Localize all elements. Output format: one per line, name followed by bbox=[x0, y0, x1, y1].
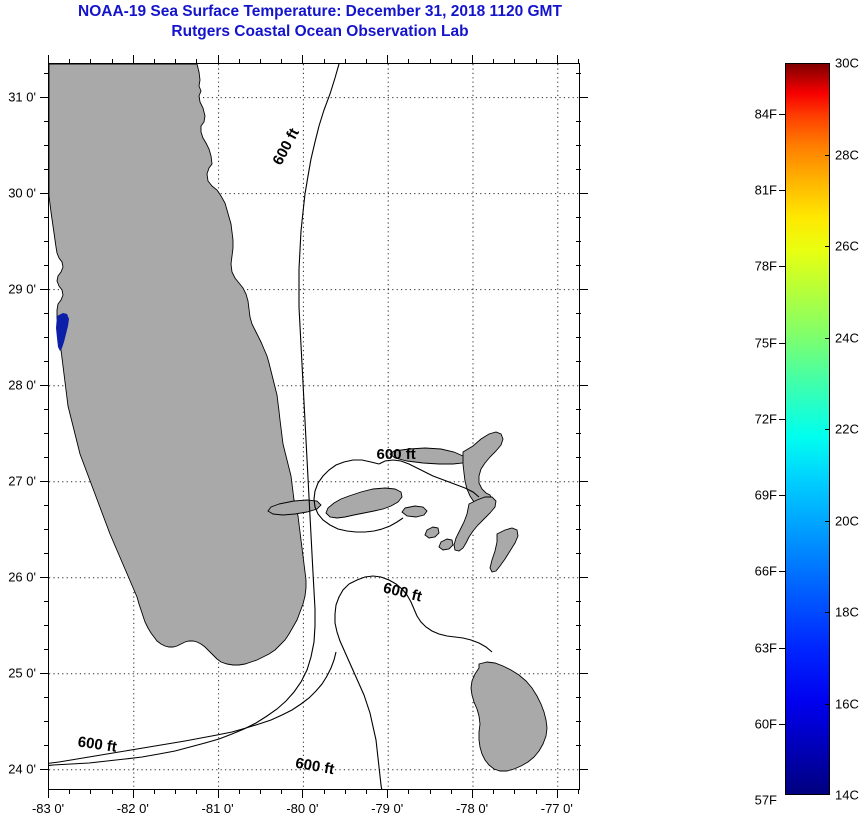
xtick-major-top bbox=[302, 55, 303, 64]
contour-600ft-straits-south bbox=[335, 584, 382, 789]
xtick-major bbox=[387, 789, 388, 798]
land-exuma-cays-2 bbox=[439, 539, 453, 550]
xtick-minor-top bbox=[451, 59, 452, 64]
xtick-major-top bbox=[218, 55, 219, 64]
xtick-minor bbox=[196, 789, 197, 794]
colorbar-fahrenheit-label: 63F bbox=[733, 640, 777, 655]
ytick-major-right bbox=[579, 385, 588, 386]
xtick-minor-top bbox=[175, 59, 176, 64]
land-andros bbox=[326, 488, 402, 518]
xtick-minor-top bbox=[514, 59, 515, 64]
ytick-minor bbox=[44, 553, 49, 554]
xtick-major-top bbox=[387, 55, 388, 64]
ytick-minor-right bbox=[576, 265, 581, 266]
xtick-major bbox=[48, 789, 49, 798]
title-line-2: Rutgers Coastal Ocean Observation Lab bbox=[0, 22, 640, 42]
ytick-minor-right bbox=[576, 217, 581, 218]
land-eleuthera bbox=[454, 497, 496, 551]
xtick-minor-top bbox=[324, 59, 325, 64]
ytick-minor bbox=[44, 241, 49, 242]
colorbar-fahrenheit-tick bbox=[779, 190, 785, 191]
land-exuma-cays bbox=[425, 527, 439, 538]
colorbar-celsius-label: 18C bbox=[835, 605, 859, 620]
xtick-major-top bbox=[48, 55, 49, 64]
colorbar-fahrenheit-tick bbox=[779, 571, 785, 572]
colorbar-celsius-tick bbox=[825, 612, 830, 613]
ytick-minor-right bbox=[576, 313, 581, 314]
ytick-minor bbox=[44, 505, 49, 506]
colorbar-fahrenheit-tick bbox=[779, 419, 785, 420]
xtick-major bbox=[557, 789, 558, 798]
ytick-minor bbox=[44, 145, 49, 146]
ytick-minor bbox=[44, 409, 49, 410]
xtick-minor bbox=[260, 789, 261, 794]
ytick-label: 24 0' bbox=[0, 761, 36, 776]
xtick-minor bbox=[324, 789, 325, 794]
ytick-label: 31 0' bbox=[0, 89, 36, 104]
colorbar-fahrenheit-label: 78F bbox=[733, 259, 777, 274]
ytick-minor bbox=[44, 217, 49, 218]
xtick-minor bbox=[408, 789, 409, 794]
ytick-label: 29 0' bbox=[0, 281, 36, 296]
xtick-minor bbox=[536, 789, 537, 794]
map-canvas: 600 ft600 ft600 ft600 ft600 ft bbox=[49, 64, 579, 789]
ytick-minor bbox=[44, 649, 49, 650]
land-florida-peninsula bbox=[49, 64, 306, 665]
colorbar-fahrenheit-label: 84F bbox=[733, 106, 777, 121]
colorbar-fahrenheit-label: 75F bbox=[733, 335, 777, 350]
ytick-major bbox=[40, 193, 49, 194]
land-new-providence bbox=[402, 506, 427, 517]
ytick-minor-right bbox=[576, 553, 581, 554]
ytick-major-right bbox=[579, 577, 588, 578]
ytick-major-right bbox=[579, 481, 588, 482]
page-title: NOAA-19 Sea Surface Temperature: Decembe… bbox=[0, 2, 640, 42]
land-abaco bbox=[463, 432, 503, 507]
ytick-minor bbox=[44, 457, 49, 458]
xtick-label: -82 0' bbox=[117, 801, 149, 816]
ytick-major bbox=[40, 385, 49, 386]
xtick-minor bbox=[239, 789, 240, 794]
colorbar-celsius-label: 20C bbox=[835, 513, 859, 528]
xtick-minor-top bbox=[578, 59, 579, 64]
ytick-major-right bbox=[579, 673, 588, 674]
ytick-label: 26 0' bbox=[0, 569, 36, 584]
ytick-minor-right bbox=[576, 745, 581, 746]
colorbar-fahrenheit-label: 81F bbox=[733, 183, 777, 198]
xtick-minor bbox=[112, 789, 113, 794]
ytick-major bbox=[40, 97, 49, 98]
ytick-minor-right bbox=[576, 721, 581, 722]
ytick-major bbox=[40, 289, 49, 290]
xtick-minor bbox=[90, 789, 91, 794]
ytick-minor-right bbox=[576, 337, 581, 338]
colorbar-celsius-label: 22C bbox=[835, 422, 859, 437]
colorbar-celsius-tick bbox=[825, 521, 830, 522]
land-cuba bbox=[471, 662, 547, 771]
colorbar-fahrenheit-tick bbox=[779, 114, 785, 115]
xtick-minor-top bbox=[366, 59, 367, 64]
ytick-minor bbox=[44, 313, 49, 314]
xtick-major-top bbox=[557, 55, 558, 64]
colorbar-fahrenheit-tick bbox=[779, 343, 785, 344]
ytick-minor-right bbox=[576, 649, 581, 650]
ytick-major bbox=[40, 673, 49, 674]
colorbar-celsius-label: 26C bbox=[835, 239, 859, 254]
colorbar-fahrenheit-label: 69F bbox=[733, 488, 777, 503]
colorbar-celsius-tick bbox=[825, 704, 830, 705]
colorbar-celsius-tick bbox=[825, 338, 830, 339]
colorbar-celsius-tick bbox=[825, 246, 830, 247]
ytick-minor-right bbox=[576, 601, 581, 602]
contour-label-600ft: 600 ft bbox=[77, 734, 118, 756]
ytick-minor bbox=[44, 625, 49, 626]
land-cat-island bbox=[490, 528, 518, 572]
xtick-minor-top bbox=[196, 59, 197, 64]
ytick-major-right bbox=[579, 97, 588, 98]
ytick-minor bbox=[44, 121, 49, 122]
xtick-minor-top bbox=[260, 59, 261, 64]
xtick-major-top bbox=[472, 55, 473, 64]
xtick-minor bbox=[366, 789, 367, 794]
ytick-minor bbox=[44, 601, 49, 602]
ytick-major bbox=[40, 577, 49, 578]
xtick-major bbox=[472, 789, 473, 798]
ytick-minor-right bbox=[576, 457, 581, 458]
ytick-major bbox=[40, 481, 49, 482]
ytick-major-right bbox=[579, 769, 588, 770]
colorbar-fahrenheit-label: 60F bbox=[733, 716, 777, 731]
title-line-1: NOAA-19 Sea Surface Temperature: Decembe… bbox=[0, 2, 640, 22]
colorbar-celsius-label: 16C bbox=[835, 696, 859, 711]
xtick-minor-top bbox=[493, 59, 494, 64]
colorbar-fahrenheit-tick bbox=[779, 724, 785, 725]
xtick-minor-top bbox=[154, 59, 155, 64]
ytick-minor-right bbox=[576, 241, 581, 242]
xtick-major bbox=[302, 789, 303, 798]
ytick-minor-right bbox=[576, 361, 581, 362]
xtick-minor-top bbox=[239, 59, 240, 64]
xtick-minor-top bbox=[408, 59, 409, 64]
xtick-minor bbox=[175, 789, 176, 794]
xtick-label: -78 0' bbox=[456, 801, 488, 816]
colorbar-fahrenheit-label: 57F bbox=[733, 793, 777, 808]
xtick-major bbox=[218, 789, 219, 798]
ytick-minor bbox=[44, 361, 49, 362]
ytick-minor-right bbox=[576, 529, 581, 530]
ytick-minor bbox=[44, 745, 49, 746]
colorbar-celsius-label: 28C bbox=[835, 147, 859, 162]
ytick-minor-right bbox=[576, 409, 581, 410]
colorbar-fahrenheit-tick bbox=[779, 648, 785, 649]
xtick-minor bbox=[578, 789, 579, 794]
ytick-minor-right bbox=[576, 169, 581, 170]
colorbar-celsius-tick bbox=[825, 429, 830, 430]
ytick-minor-right bbox=[576, 145, 581, 146]
xtick-minor bbox=[345, 789, 346, 794]
xtick-minor bbox=[281, 789, 282, 794]
xtick-minor-top bbox=[430, 59, 431, 64]
map-plot-area[interactable]: 600 ft600 ft600 ft600 ft600 ft bbox=[48, 63, 580, 790]
xtick-minor bbox=[154, 789, 155, 794]
ytick-minor-right bbox=[576, 505, 581, 506]
xtick-minor bbox=[69, 789, 70, 794]
ytick-label: 25 0' bbox=[0, 665, 36, 680]
contour-label-600ft: 600 ft bbox=[377, 446, 416, 463]
ytick-minor-right bbox=[576, 73, 581, 74]
ytick-minor-right bbox=[576, 697, 581, 698]
xtick-label: -80 0' bbox=[286, 801, 318, 816]
xtick-minor-top bbox=[69, 59, 70, 64]
xtick-minor-top bbox=[90, 59, 91, 64]
ytick-minor bbox=[44, 73, 49, 74]
colorbar-celsius-label: 30C bbox=[835, 56, 859, 71]
ytick-label: 28 0' bbox=[0, 377, 36, 392]
ytick-minor bbox=[44, 433, 49, 434]
ytick-label: 30 0' bbox=[0, 185, 36, 200]
ytick-minor bbox=[44, 721, 49, 722]
xtick-minor bbox=[493, 789, 494, 794]
xtick-minor bbox=[451, 789, 452, 794]
xtick-minor bbox=[514, 789, 515, 794]
ytick-minor bbox=[44, 529, 49, 530]
colorbar-celsius-label: 14C bbox=[835, 788, 859, 803]
colorbar[interactable] bbox=[785, 63, 830, 795]
xtick-minor-top bbox=[536, 59, 537, 64]
ytick-major bbox=[40, 769, 49, 770]
xtick-minor-top bbox=[345, 59, 346, 64]
xtick-minor-top bbox=[112, 59, 113, 64]
ytick-minor bbox=[44, 337, 49, 338]
xtick-label: -81 0' bbox=[202, 801, 234, 816]
xtick-label: -79 0' bbox=[371, 801, 403, 816]
xtick-minor bbox=[430, 789, 431, 794]
ytick-major-right bbox=[579, 289, 588, 290]
contour-label-600ft: 600 ft bbox=[294, 755, 336, 779]
xtick-major-top bbox=[133, 55, 134, 64]
xtick-minor-top bbox=[281, 59, 282, 64]
land-polygons bbox=[49, 64, 547, 771]
colorbar-fahrenheit-label: 66F bbox=[733, 564, 777, 579]
ytick-minor-right bbox=[576, 121, 581, 122]
ytick-minor bbox=[44, 265, 49, 266]
xtick-label: -77 0' bbox=[541, 801, 573, 816]
contour-label-600ft: 600 ft bbox=[269, 125, 302, 168]
ytick-minor bbox=[44, 697, 49, 698]
colorbar-fahrenheit-tick bbox=[779, 266, 785, 267]
ytick-minor-right bbox=[576, 433, 581, 434]
colorbar-gradient bbox=[786, 64, 829, 794]
ytick-minor bbox=[44, 169, 49, 170]
colorbar-fahrenheit-label: 72F bbox=[733, 411, 777, 426]
colorbar-fahrenheit-tick bbox=[779, 495, 785, 496]
colorbar-celsius-tick bbox=[825, 155, 830, 156]
xtick-major bbox=[133, 789, 134, 798]
ytick-minor-right bbox=[576, 625, 581, 626]
ytick-label: 27 0' bbox=[0, 473, 36, 488]
colorbar-bar bbox=[785, 63, 830, 795]
xtick-label: -83 0' bbox=[32, 801, 64, 816]
ytick-major-right bbox=[579, 193, 588, 194]
colorbar-celsius-label: 24C bbox=[835, 330, 859, 345]
